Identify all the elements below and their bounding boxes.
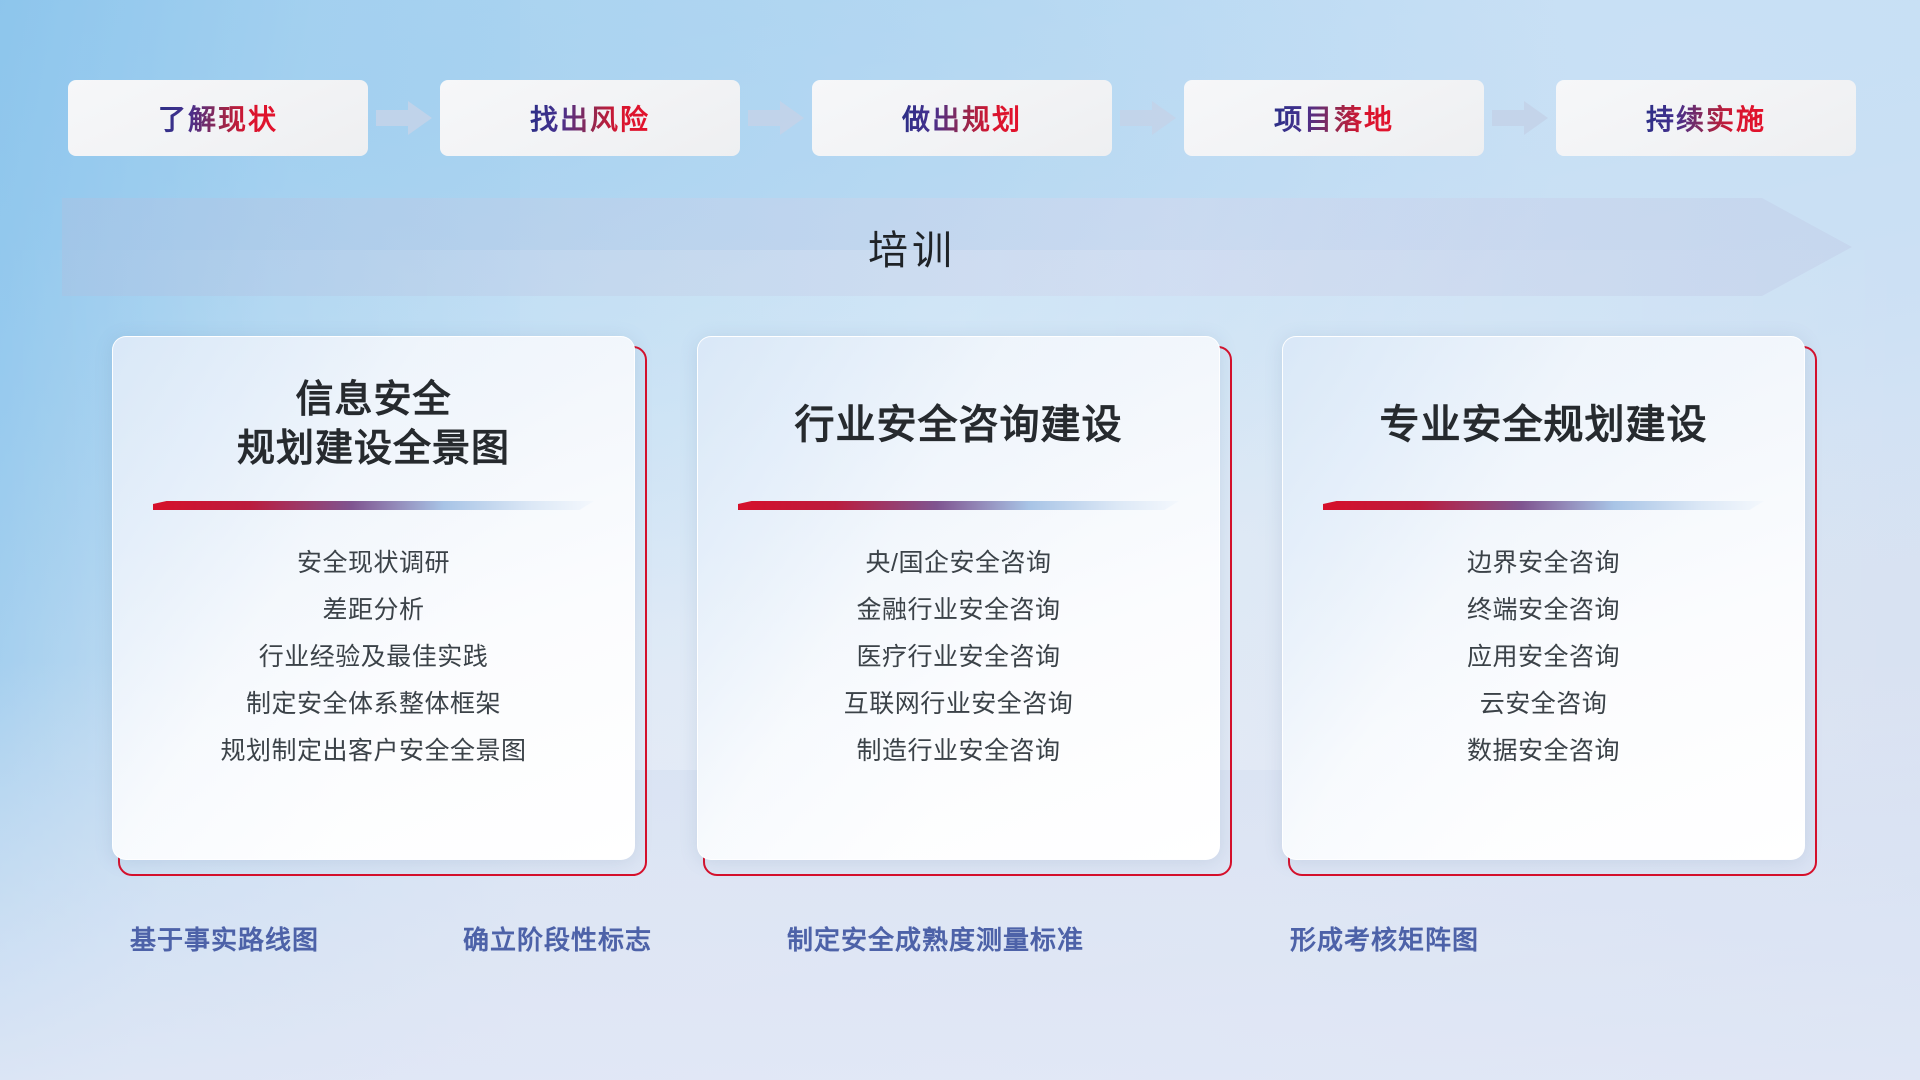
- card-divider: [153, 501, 594, 510]
- list-item: 安全现状调研: [147, 540, 600, 587]
- list-item: 差距分析: [147, 587, 600, 634]
- process-step-label: 持续实施: [1646, 98, 1766, 138]
- card-row: 信息安全 规划建设全景图: [0, 336, 1920, 876]
- card-title-line: 专业安全规划建设: [1317, 399, 1770, 451]
- card-title-line: 行业安全咨询建设: [732, 399, 1185, 451]
- arrow-right-icon: [1484, 80, 1556, 156]
- card-body[interactable]: 行业安全咨询建设: [697, 336, 1220, 860]
- card-title-line: 信息安全: [147, 376, 600, 425]
- list-item: 互联网行业安全咨询: [732, 681, 1185, 728]
- process-step-1[interactable]: 了解现状: [68, 80, 368, 156]
- card-professional-security-planning[interactable]: 专业安全规划建设: [1282, 336, 1817, 876]
- process-step-label: 找出风险: [530, 98, 650, 138]
- card-title: 专业安全规划建设: [1317, 371, 1770, 479]
- card-title: 信息安全 规划建设全景图: [147, 371, 600, 479]
- card-item-list: 央/国企安全咨询 金融行业安全咨询 医疗行业安全咨询 互联网行业安全咨询 制造行…: [732, 540, 1185, 775]
- card-item-list: 边界安全咨询 终端安全咨询 应用安全咨询 云安全咨询 数据安全咨询: [1317, 540, 1770, 775]
- footnote-row: 基于事实路线图 确立阶段性标志 制定安全成熟度测量标准 形成考核矩阵图: [0, 920, 1920, 974]
- process-step-label: 了解现状: [158, 98, 278, 138]
- arrow-right-icon: [368, 80, 440, 156]
- card-body[interactable]: 专业安全规划建设: [1282, 336, 1805, 860]
- list-item: 终端安全咨询: [1317, 587, 1770, 634]
- list-item: 数据安全咨询: [1317, 728, 1770, 775]
- card-item-list: 安全现状调研 差距分析 行业经验及最佳实践 制定安全体系整体框架 规划制定出客户…: [147, 540, 600, 775]
- list-item: 制定安全体系整体框架: [147, 681, 600, 728]
- card-divider: [738, 501, 1179, 510]
- card-body[interactable]: 信息安全 规划建设全景图: [112, 336, 635, 860]
- process-step-3[interactable]: 做出规划: [812, 80, 1112, 156]
- process-step-label: 做出规划: [902, 98, 1022, 138]
- arrow-right-icon: [1112, 80, 1184, 156]
- training-banner: 培训: [62, 198, 1852, 296]
- training-banner-label: 培训: [62, 198, 1762, 296]
- arrow-right-icon: [740, 80, 812, 156]
- process-step-row: 了解现状 找出风险 做出规划 项目落地 持续实施: [68, 80, 1858, 156]
- list-item: 云安全咨询: [1317, 681, 1770, 728]
- card-title: 行业安全咨询建设: [732, 371, 1185, 479]
- footnote-label: 确立阶段性标志: [463, 920, 652, 957]
- process-step-5[interactable]: 持续实施: [1556, 80, 1856, 156]
- process-step-2[interactable]: 找出风险: [440, 80, 740, 156]
- list-item: 规划制定出客户安全全景图: [147, 728, 600, 775]
- card-divider: [1323, 501, 1764, 510]
- card-title-line: 规划建设全景图: [147, 425, 600, 474]
- list-item: 边界安全咨询: [1317, 540, 1770, 587]
- list-item: 央/国企安全咨询: [732, 540, 1185, 587]
- card-industry-security-consulting[interactable]: 行业安全咨询建设: [697, 336, 1232, 876]
- card-information-security-blueprint[interactable]: 信息安全 规划建设全景图: [112, 336, 647, 876]
- list-item: 应用安全咨询: [1317, 634, 1770, 681]
- list-item: 制造行业安全咨询: [732, 728, 1185, 775]
- list-item: 行业经验及最佳实践: [147, 634, 600, 681]
- process-step-label: 项目落地: [1274, 98, 1394, 138]
- footnote-label: 制定安全成熟度测量标准: [787, 920, 1084, 957]
- list-item: 医疗行业安全咨询: [732, 634, 1185, 681]
- footnote-label: 形成考核矩阵图: [1290, 920, 1479, 957]
- process-step-4[interactable]: 项目落地: [1184, 80, 1484, 156]
- list-item: 金融行业安全咨询: [732, 587, 1185, 634]
- footnote-label: 基于事实路线图: [130, 920, 319, 957]
